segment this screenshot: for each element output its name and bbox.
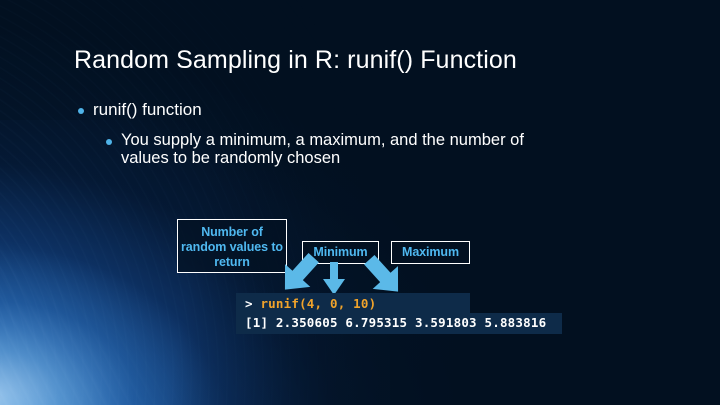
console-prompt: > xyxy=(245,296,260,311)
callout-box-count: Number of random values to return xyxy=(177,219,287,273)
bullet-item-level1: runif() function xyxy=(78,100,202,120)
slide-title: Random Sampling in R: runif() Function xyxy=(74,46,517,75)
bullet-item-level2: You supply a minimum, a maximum, and the… xyxy=(106,131,576,168)
console-output-line: [1] 2.350605 6.795315 3.591803 5.883816 xyxy=(236,313,562,334)
slide: Random Sampling in R: runif() Function r… xyxy=(0,0,720,405)
bullet-dot-icon xyxy=(106,139,112,145)
r-console-panel: > runif(4, 0, 10) [1] 2.350605 6.795315 … xyxy=(236,293,562,334)
console-command-text: runif(4, 0, 10) xyxy=(260,296,376,311)
bullet-level1-text: runif() function xyxy=(93,100,202,120)
console-command-line: > runif(4, 0, 10) xyxy=(236,293,470,313)
bullet-dot-icon xyxy=(78,108,84,114)
bullet-level2-text: You supply a minimum, a maximum, and the… xyxy=(121,131,576,168)
